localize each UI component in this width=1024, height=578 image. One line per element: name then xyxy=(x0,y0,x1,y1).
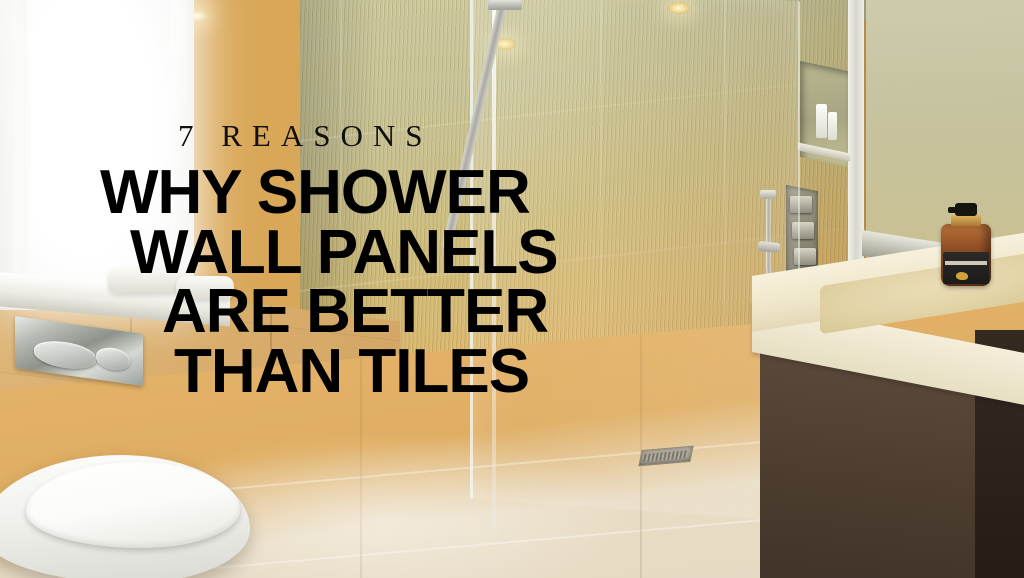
headline-line-4: THAN TILES xyxy=(100,342,558,402)
headline-line-2: WALL PANELS xyxy=(100,223,558,283)
eyebrow-text: 7 REASONS xyxy=(178,118,433,154)
headline: WHY SHOWER WALL PANELS ARE BETTER THAN T… xyxy=(100,163,558,401)
header-graphic: 7 REASONS WHY SHOWER WALL PANELS ARE BET… xyxy=(0,0,1024,578)
headline-line-1: WHY SHOWER xyxy=(100,163,558,223)
text-overlay: 7 REASONS WHY SHOWER WALL PANELS ARE BET… xyxy=(0,0,1024,578)
headline-line-3: ARE BETTER xyxy=(100,282,558,342)
